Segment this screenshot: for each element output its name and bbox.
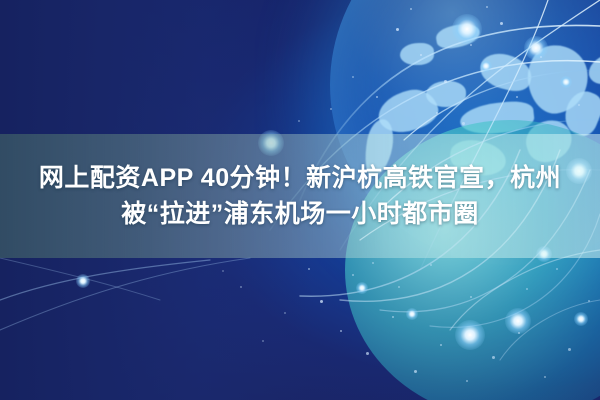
star-particle — [320, 300, 323, 303]
star-particle — [568, 348, 571, 351]
star-particle — [420, 54, 422, 56]
star-particle — [430, 264, 432, 266]
network-node — [356, 282, 368, 294]
star-particle — [410, 8, 412, 10]
star-particle — [540, 56, 542, 58]
star-particle — [516, 96, 518, 98]
star-particle — [486, 6, 488, 8]
star-particle — [444, 80, 447, 83]
network-node — [455, 320, 485, 350]
network-node — [560, 76, 572, 88]
title-line-1: 网上配资APP 40分钟！新沪杭高铁官宣，杭州 — [39, 160, 561, 196]
banner-title: 网上配资APP 40分钟！新沪杭高铁官宣，杭州 被“拉进”浦东机场一小时都市圈 — [0, 134, 600, 258]
star-particle — [398, 286, 400, 288]
network-node — [524, 36, 548, 60]
star-particle — [440, 344, 442, 346]
star-particle — [588, 300, 590, 302]
star-particle — [414, 370, 417, 373]
star-particle — [352, 76, 354, 78]
star-particle — [556, 268, 558, 270]
star-particle — [372, 262, 374, 264]
star-particle — [470, 296, 472, 298]
star-particle — [308, 268, 310, 270]
network-node — [452, 14, 482, 44]
star-particle — [500, 22, 503, 25]
star-particle — [492, 356, 495, 359]
star-particle — [298, 120, 300, 122]
network-node — [406, 308, 418, 320]
network-node — [505, 308, 531, 334]
star-particle — [470, 44, 472, 46]
star-particle — [366, 352, 369, 355]
star-particle — [466, 380, 468, 382]
star-particle — [376, 96, 378, 98]
network-node — [480, 60, 492, 72]
star-particle — [240, 286, 242, 288]
star-particle — [352, 274, 354, 276]
star-particle — [544, 376, 546, 378]
star-particle — [578, 104, 580, 106]
star-particle — [392, 316, 394, 318]
network-node — [574, 312, 588, 326]
star-particle — [462, 122, 465, 125]
title-line-2: 被“拉进”浦东机场一小时都市圈 — [121, 196, 479, 232]
network-node — [76, 274, 90, 288]
star-particle — [518, 332, 520, 334]
star-particle — [284, 312, 286, 314]
star-particle — [262, 340, 264, 342]
star-particle — [526, 288, 528, 290]
star-particle — [396, 28, 399, 31]
star-particle — [330, 108, 332, 110]
star-particle — [340, 330, 342, 332]
star-particle — [222, 270, 224, 272]
banner-image: 网上配资APP 40分钟！新沪杭高铁官宣，杭州 被“拉进”浦东机场一小时都市圈 — [0, 0, 600, 400]
star-particle — [436, 112, 438, 114]
